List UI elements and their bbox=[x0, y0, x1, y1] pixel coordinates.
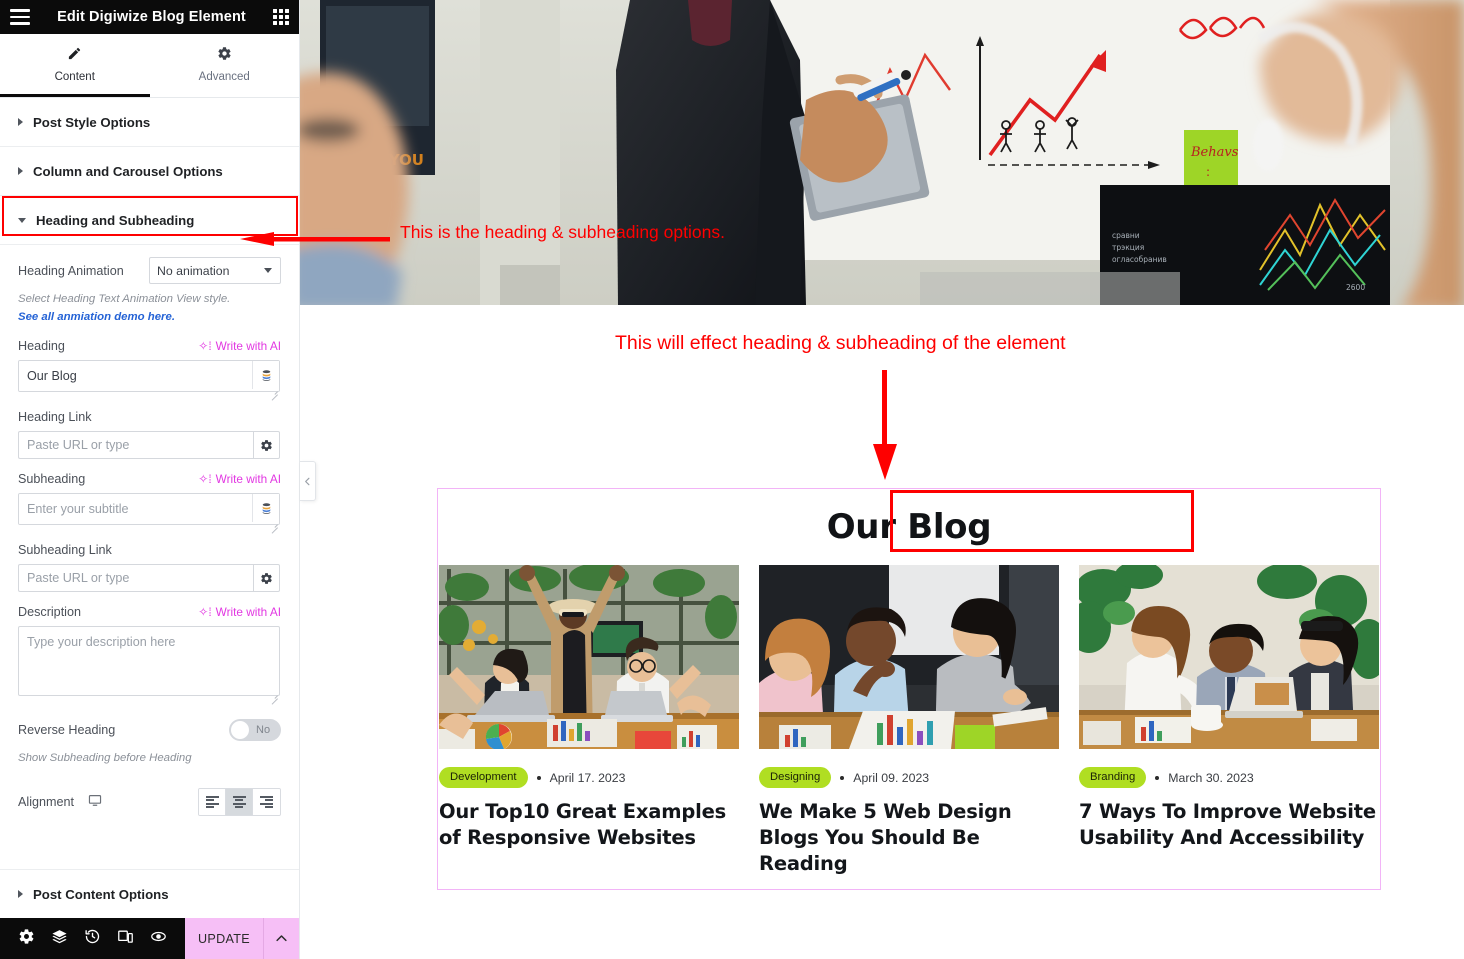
chevron-up-icon[interactable] bbox=[263, 918, 299, 959]
sparkle-icon: ✧⁞ bbox=[198, 606, 211, 618]
tab-advanced-label: Advanced bbox=[199, 71, 250, 83]
svg-text:сравни: сравни bbox=[1112, 231, 1140, 240]
card-meta: Designing April 09. 2023 bbox=[759, 767, 1059, 788]
arrow-left-to-panel bbox=[240, 232, 390, 246]
reverse-heading-hint: Show Subheading before Heading bbox=[18, 750, 281, 768]
blog-card[interactable]: Designing April 09. 2023 We Make 5 Web D… bbox=[759, 565, 1059, 877]
reverse-heading-toggle[interactable]: No bbox=[229, 719, 281, 741]
ai-label: Write with AI bbox=[216, 472, 281, 486]
update-button[interactable]: UPDATE bbox=[185, 918, 263, 959]
card-meta: Branding March 30. 2023 bbox=[1079, 767, 1379, 788]
ai-label: Write with AI bbox=[216, 605, 281, 619]
subheading-input[interactable] bbox=[18, 493, 280, 525]
description-input-wrap bbox=[18, 626, 280, 701]
hero-image: NEED YOU Behavs : bbox=[300, 0, 1464, 305]
chevron-right-icon bbox=[18, 167, 23, 175]
write-with-ai-description-button[interactable]: ✧⁞ Write with AI bbox=[198, 605, 281, 619]
card-date: March 30. 2023 bbox=[1168, 771, 1253, 785]
svg-text::: : bbox=[1206, 165, 1210, 179]
field-label: Heading Link bbox=[18, 410, 92, 424]
category-badge[interactable]: Development bbox=[439, 767, 528, 788]
align-center-button[interactable] bbox=[226, 789, 253, 815]
blog-widget[interactable]: Our Blog bbox=[437, 488, 1381, 890]
section-label: Post Content Options bbox=[33, 887, 169, 902]
panel-tabs: Content Advanced bbox=[0, 34, 299, 98]
tab-advanced[interactable]: Advanced bbox=[150, 34, 300, 97]
editor-canvas: NEED YOU Behavs : bbox=[300, 0, 1464, 959]
field-label: Reverse Heading bbox=[18, 723, 115, 737]
field-heading: Heading ✧⁞ Write with AI Our Blog bbox=[18, 339, 281, 397]
write-with-ai-subheading-button[interactable]: ✧⁞ Write with AI bbox=[198, 472, 281, 486]
preview-eye-icon[interactable] bbox=[150, 928, 167, 950]
presentation-photo: NEED YOU Behavs : bbox=[300, 0, 1464, 305]
description-input[interactable] bbox=[18, 626, 280, 696]
heading-input-wrap: Our Blog bbox=[18, 360, 280, 397]
editor-panel: Edit Digiwize Blog Element Content Advan… bbox=[0, 0, 300, 959]
heading-link-wrap bbox=[18, 431, 280, 459]
heading-link-input[interactable] bbox=[18, 431, 253, 459]
sparkle-icon: ✧⁞ bbox=[198, 473, 211, 485]
card-meta: Development April 17. 2023 bbox=[439, 767, 739, 788]
separator-dot bbox=[1155, 776, 1159, 780]
ai-label: Write with AI bbox=[216, 339, 281, 353]
separator-dot bbox=[840, 776, 844, 780]
team-collaboration-photo bbox=[1079, 565, 1379, 749]
tab-content-label: Content bbox=[55, 71, 95, 83]
section-label: Post Style Options bbox=[33, 115, 150, 130]
team-meeting-charts-photo bbox=[759, 565, 1059, 749]
desktop-icon[interactable] bbox=[88, 793, 102, 812]
field-alignment: Alignment bbox=[18, 788, 281, 816]
field-heading-animation: Heading Animation No animation Select He… bbox=[18, 257, 281, 326]
chevron-right-icon bbox=[18, 890, 23, 898]
heading-animation-hint: Select Heading Text Animation View style… bbox=[18, 291, 281, 326]
animation-demo-link[interactable]: See all anmiation demo here. bbox=[18, 311, 175, 323]
separator-dot bbox=[537, 776, 541, 780]
blog-cards-row: Development April 17. 2023 Our Top10 Gre… bbox=[441, 565, 1377, 877]
field-heading-link: Heading Link bbox=[18, 410, 281, 459]
dynamic-tags-icon[interactable] bbox=[252, 494, 279, 522]
subheading-link-input[interactable] bbox=[18, 564, 253, 592]
page-title: Edit Digiwize Blog Element bbox=[30, 9, 273, 25]
heading-animation-select[interactable]: No animation bbox=[149, 257, 281, 284]
field-description: Description ✧⁞ Write with AI bbox=[18, 605, 281, 701]
responsive-mode-icon[interactable] bbox=[117, 928, 134, 950]
annotation-heading-options: This is the heading & subheading options… bbox=[400, 222, 725, 243]
settings-gear-icon[interactable] bbox=[18, 928, 35, 950]
card-title[interactable]: We Make 5 Web Design Blogs You Should Be… bbox=[759, 799, 1059, 877]
section-column-and-carousel-options[interactable]: Column and Carousel Options bbox=[0, 147, 299, 196]
sparkle-icon: ✧⁞ bbox=[198, 340, 211, 352]
card-thumbnail[interactable] bbox=[759, 565, 1059, 749]
svg-text:трэкция: трэкция bbox=[1112, 243, 1144, 252]
card-date: April 17. 2023 bbox=[550, 771, 626, 785]
alignment-button-group bbox=[198, 788, 281, 816]
pencil-icon bbox=[67, 46, 82, 64]
category-badge[interactable]: Designing bbox=[759, 767, 831, 788]
blog-card[interactable]: Branding March 30. 2023 7 Ways To Improv… bbox=[1079, 565, 1379, 877]
field-label: Subheading Link bbox=[18, 543, 112, 557]
section-label: Column and Carousel Options bbox=[33, 164, 223, 179]
panel-body: Heading Animation No animation Select He… bbox=[0, 245, 299, 869]
svg-text:огласобранив: огласобранив bbox=[1112, 255, 1167, 264]
gear-icon[interactable] bbox=[253, 431, 280, 459]
align-left-button[interactable] bbox=[199, 789, 226, 815]
toggle-state-label: No bbox=[256, 724, 270, 736]
svg-text:2600: 2600 bbox=[1346, 283, 1365, 292]
subheading-link-wrap bbox=[18, 564, 280, 592]
annotation-effect-note: This will effect heading & subheading of… bbox=[615, 332, 1066, 355]
blog-heading[interactable]: Our Blog bbox=[438, 489, 1380, 565]
card-title[interactable]: Our Top10 Great Examples of Responsive W… bbox=[439, 799, 739, 851]
panel-header: Edit Digiwize Blog Element bbox=[0, 0, 299, 34]
field-subheading: Subheading ✧⁞ Write with AI bbox=[18, 472, 281, 530]
subheading-input-wrap bbox=[18, 493, 280, 530]
hint-text: Select Heading Text Animation View style… bbox=[18, 293, 230, 305]
section-post-content-options[interactable]: Post Content Options bbox=[0, 869, 299, 918]
card-title[interactable]: 7 Ways To Improve Website Usability And … bbox=[1079, 799, 1379, 851]
section-label: Heading and Subheading bbox=[36, 213, 194, 228]
hamburger-icon[interactable] bbox=[10, 9, 30, 25]
blog-card[interactable]: Development April 17. 2023 Our Top10 Gre… bbox=[439, 565, 739, 877]
team-celebrating-photo bbox=[439, 565, 739, 749]
field-label: Heading bbox=[18, 339, 65, 353]
chevron-right-icon bbox=[18, 118, 23, 126]
gear-icon bbox=[217, 46, 232, 64]
card-thumbnail[interactable] bbox=[439, 565, 739, 749]
svg-text:Behavs: Behavs bbox=[1190, 145, 1239, 160]
history-icon[interactable] bbox=[84, 928, 101, 950]
navigator-layers-icon[interactable] bbox=[51, 928, 68, 950]
toggle-knob bbox=[231, 721, 249, 739]
category-badge[interactable]: Branding bbox=[1079, 767, 1146, 788]
gear-icon[interactable] bbox=[253, 564, 280, 592]
field-subheading-link: Subheading Link bbox=[18, 543, 281, 592]
field-label: Subheading bbox=[18, 472, 85, 486]
card-date: April 09. 2023 bbox=[853, 771, 929, 785]
field-label: Heading Animation bbox=[18, 264, 124, 278]
write-with-ai-heading-button[interactable]: ✧⁞ Write with AI bbox=[198, 339, 281, 353]
section-post-style-options[interactable]: Post Style Options bbox=[0, 98, 299, 147]
dynamic-tags-icon[interactable] bbox=[252, 361, 279, 389]
heading-animation-select-wrap: No animation bbox=[149, 257, 281, 284]
card-thumbnail[interactable] bbox=[1079, 565, 1379, 749]
heading-input[interactable]: Our Blog bbox=[18, 360, 280, 392]
footer-icon-bar bbox=[0, 918, 185, 959]
field-label: Alignment bbox=[18, 795, 74, 809]
field-label: Description bbox=[18, 605, 81, 619]
grid-apps-icon[interactable] bbox=[273, 9, 289, 25]
panel-collapse-handle[interactable] bbox=[300, 461, 316, 501]
align-right-button[interactable] bbox=[253, 789, 280, 815]
field-reverse-heading: Reverse Heading No Show Subheading befor… bbox=[18, 719, 281, 768]
tab-content[interactable]: Content bbox=[0, 34, 150, 97]
chevron-down-icon bbox=[18, 218, 26, 223]
arrow-down-to-heading bbox=[873, 370, 897, 480]
panel-footer: UPDATE bbox=[0, 918, 299, 959]
